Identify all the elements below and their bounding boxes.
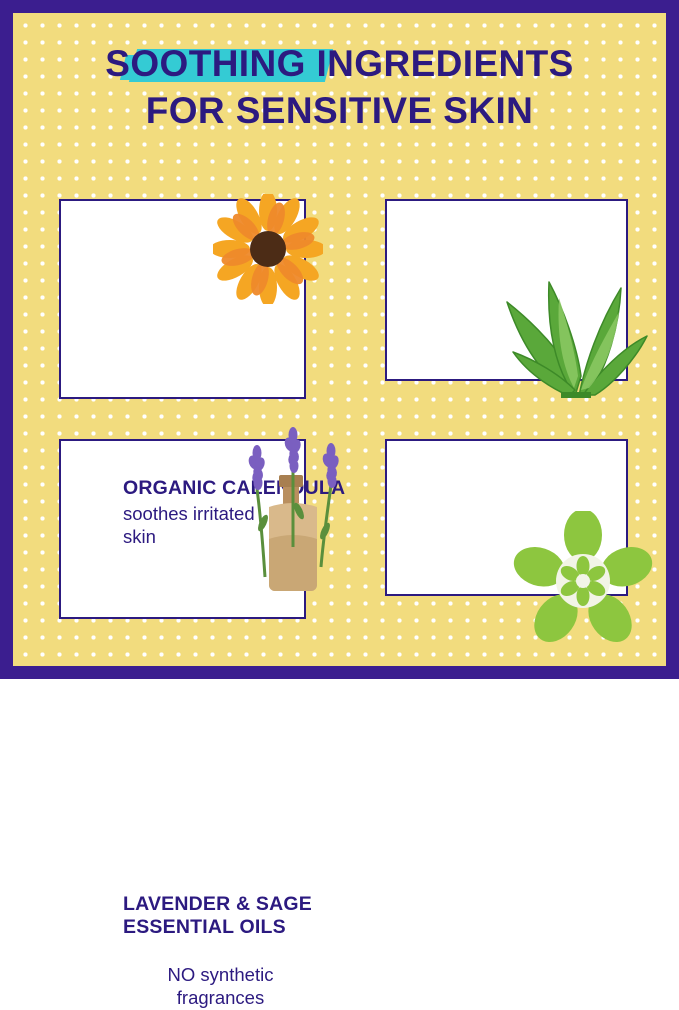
title-line-2: FOR SENSITIVE SKIN (13, 88, 666, 135)
card-lavender-desc: NO synthetic fragrances (123, 963, 358, 1010)
calendula-flower-icon (213, 194, 323, 304)
lavender-bottle-icon (235, 427, 351, 602)
infographic-poster: SOOTHING INGREDIENTS FOR SENSITIVE SKIN … (0, 0, 679, 679)
card-lavender-text: LAVENDER & SAGE ESSENTIAL OILS NO synthe… (123, 893, 358, 1010)
soap-bark-flower-icon (513, 511, 653, 651)
page-title: SOOTHING INGREDIENTS FOR SENSITIVE SKIN (13, 41, 666, 135)
title-line-1-text: SOOTHING INGREDIENTS (105, 43, 573, 84)
card-lavender-title: LAVENDER & SAGE ESSENTIAL OILS (123, 893, 358, 939)
title-line-2-text: FOR SENSITIVE SKIN (146, 90, 534, 131)
title-line-1: SOOTHING INGREDIENTS (13, 41, 666, 88)
aloe-vera-plant-icon (503, 248, 649, 398)
